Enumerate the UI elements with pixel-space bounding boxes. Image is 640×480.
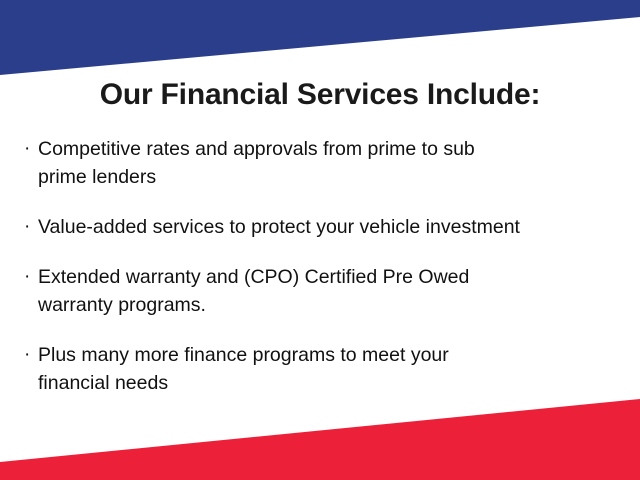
page-title: Our Financial Services Include: — [0, 78, 640, 112]
list-item-text: Extended warranty and (CPO) Certified Pr… — [38, 263, 616, 319]
blue-diagonal-banner — [0, 0, 640, 80]
list-item-text: Plus many more finance programs to meet … — [38, 341, 616, 397]
list-item-text: Value-added services to protect your veh… — [38, 213, 616, 241]
bullet-dot-icon: · — [24, 135, 38, 163]
list-item: · Value-added services to protect your v… — [24, 213, 624, 241]
list-item: · Competitive rates and approvals from p… — [24, 135, 624, 191]
red-diagonal-shape — [0, 392, 640, 480]
list-item-line-2: warranty programs. — [38, 291, 616, 319]
list-item-text: Competitive rates and approvals from pri… — [38, 135, 616, 191]
list-item: · Plus many more finance programs to mee… — [24, 341, 624, 397]
list-item-line-2: financial needs — [38, 369, 616, 397]
list-item-line-1: Competitive rates and approvals from pri… — [38, 138, 475, 160]
bullet-list: · Competitive rates and approvals from p… — [24, 135, 624, 397]
red-diagonal-banner — [0, 392, 640, 480]
bullet-dot-icon: · — [24, 341, 38, 369]
list-item-line-1: Extended warranty and (CPO) Certified Pr… — [38, 266, 469, 288]
list-item-line-1: Plus many more finance programs to meet … — [38, 344, 449, 366]
slide-canvas: Our Financial Services Include: · Compet… — [0, 0, 640, 480]
list-item: · Extended warranty and (CPO) Certified … — [24, 263, 624, 319]
list-item-line-1: Value-added services to protect your veh… — [38, 216, 520, 238]
bullet-dot-icon: · — [24, 213, 38, 241]
list-item-line-2: prime lenders — [38, 163, 616, 191]
bullet-dot-icon: · — [24, 263, 38, 291]
blue-diagonal-shape — [0, 0, 640, 80]
